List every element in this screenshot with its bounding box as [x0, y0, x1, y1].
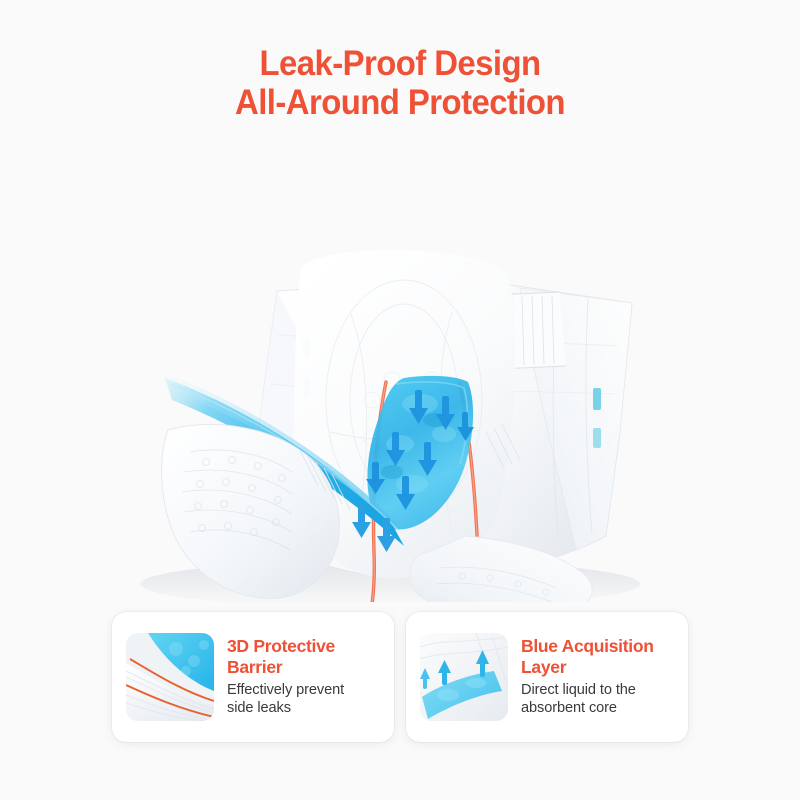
page-headline: Leak-Proof Design All-Around Protection: [24, 44, 776, 122]
feature-card-title-line-1: Blue Acquisition: [521, 636, 654, 656]
feature-card-title-line-1: 3D Protective: [227, 636, 335, 656]
feature-card-blue-acquisition-layer[interactable]: Blue Acquisition Layer Direct liquid to …: [406, 612, 688, 742]
feature-card-title-line-2: Layer: [521, 657, 566, 677]
feature-card-title: 3D Protective Barrier: [227, 636, 382, 677]
headline-line-2: All-Around Protection: [24, 83, 776, 122]
feature-cards: 3D Protective Barrier Effectively preven…: [112, 612, 688, 742]
feature-card-3d-protective-barrier[interactable]: 3D Protective Barrier Effectively preven…: [112, 612, 394, 742]
feature-card-body: Direct liquid to the absorbent core: [521, 682, 676, 718]
barrier-cuff-thumbnail: [126, 633, 214, 721]
feature-card-body-line-2: absorbent core: [521, 700, 617, 716]
feature-card-body-line-1: Effectively prevent: [227, 682, 344, 698]
feature-card-text: Blue Acquisition Layer Direct liquid to …: [521, 636, 676, 717]
feature-card-title: Blue Acquisition Layer: [521, 636, 676, 677]
feature-card-body: Effectively prevent side leaks: [227, 682, 382, 718]
hero-product-image: [0, 132, 800, 602]
feature-card-text: 3D Protective Barrier Effectively preven…: [227, 636, 382, 717]
feature-card-body-line-1: Direct liquid to the: [521, 682, 636, 698]
product-feature-page: Leak-Proof Design All-Around Protection: [0, 0, 800, 800]
feature-card-body-line-2: side leaks: [227, 700, 291, 716]
feature-card-title-line-2: Barrier: [227, 657, 282, 677]
acquisition-layer-thumbnail: [420, 633, 508, 721]
headline-line-1: Leak-Proof Design: [259, 44, 540, 83]
